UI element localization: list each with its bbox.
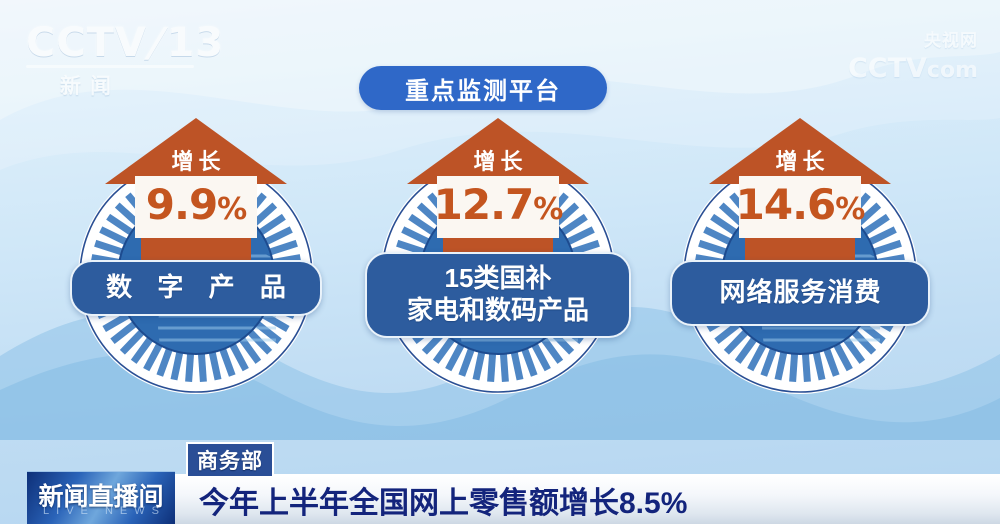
growth-value-box: 14.6% (739, 176, 861, 238)
program-name-en: LIVE NEWS (36, 505, 166, 517)
badge-label-line: 家电和数码产品 (407, 295, 589, 327)
broadcast-frame: CCTV/13 新闻 央视网 CCTVcom 重点监测平台 (0, 0, 1000, 524)
cctv13-letters: CCTV (26, 20, 147, 66)
badge-label-text: 数 字 产 品 (97, 272, 295, 304)
page-title-text: 重点监测平台 (405, 71, 561, 106)
cctv-com-cn: 央视网 (924, 31, 978, 51)
page-title: 重点监测平台 (359, 66, 607, 110)
badge-group: 增长 9.9% 数 字 产 品 (0, 118, 1000, 418)
cctv13-subtitle: 新闻 (60, 70, 226, 100)
badge-label-bar: 数 字 产 品 (70, 260, 322, 316)
cctv-com-letters: CCTV (848, 53, 927, 84)
cctv-com-cn-row: 央视网 (798, 24, 978, 55)
growth-label: 增长 (105, 144, 287, 176)
growth-number: 12.7 (434, 180, 534, 229)
cctv-com-watermark: 央视网 CCTVcom (798, 24, 978, 70)
badge-label-text: 15类国补 家电和数码产品 (407, 263, 589, 326)
cctv13-number: 13 (167, 20, 225, 66)
growth-value-box: 9.9% (135, 176, 257, 238)
stat-badge-digital-products: 增长 9.9% 数 字 产 品 (50, 118, 342, 418)
growth-number: 14.6 (736, 180, 836, 229)
stat-badge-subsidy-appliances: 增长 12.7% 15类国补 家电和数码产品 (352, 118, 644, 418)
headline-bar: 今年上半年全国网上零售额增长8.5% (175, 474, 1000, 524)
badge-label-line: 网络服务消费 (718, 277, 881, 309)
badge-label-text: 网络服务消费 (718, 277, 881, 309)
badge-label-bar: 网络服务消费 (670, 260, 930, 326)
program-logo: 新闻直播间 LIVE NEWS (27, 471, 175, 524)
growth-number: 9.9 (146, 180, 217, 229)
cctv-com-en-row: CCTVcom (798, 55, 978, 85)
cctv-com-domain: com (927, 58, 978, 83)
headline-text: 今年上半年全国网上零售额增长8.5% (199, 478, 687, 522)
growth-value-box: 12.7% (437, 176, 559, 238)
lower-third: 今年上半年全国网上零售额增长8.5% 商务部 新闻直播间 LIVE NEWS (0, 440, 1000, 524)
percent-sign: % (835, 192, 864, 227)
badge-label-bar: 15类国补 家电和数码产品 (365, 252, 631, 338)
growth-label: 增长 (407, 144, 589, 176)
cctv13-wordmark: CCTV/13 (26, 22, 226, 64)
growth-label: 增长 (709, 144, 891, 176)
growth-value: 14.6% (736, 183, 865, 232)
cctv13-logo: CCTV/13 新闻 (26, 22, 226, 92)
badge-label-line: 数 字 产 品 (97, 272, 295, 304)
source-tag-text: 商务部 (197, 445, 263, 475)
percent-sign: % (533, 192, 562, 227)
badge-label-line: 15类国补 (407, 263, 589, 295)
source-tag: 商务部 (186, 442, 274, 476)
percent-sign: % (217, 192, 246, 227)
growth-value: 9.9% (146, 183, 246, 232)
growth-value: 12.7% (434, 183, 563, 232)
stat-badge-online-services: 增长 14.6% 网络服务消费 (654, 118, 946, 418)
